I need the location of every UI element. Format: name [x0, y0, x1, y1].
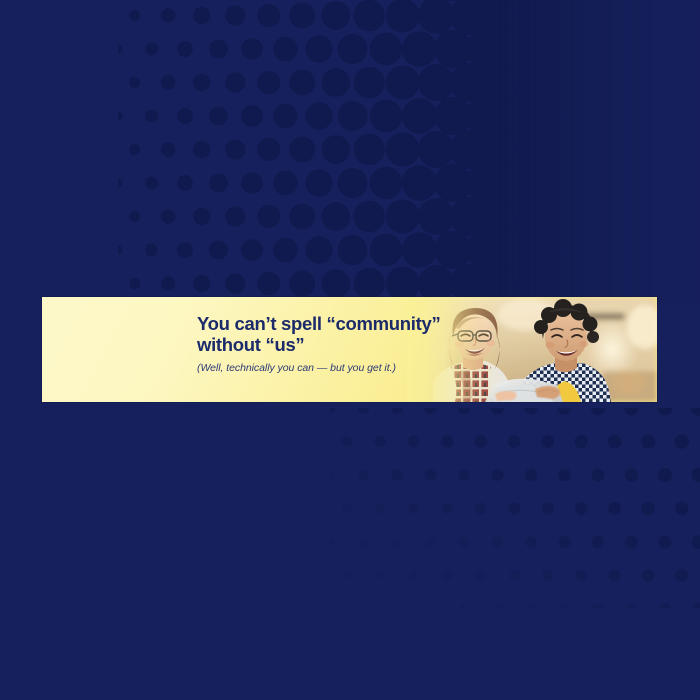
halftone-dot-pattern-top: [118, 0, 700, 304]
page-canvas: You can’t spell “community” without “us”…: [0, 0, 700, 700]
banner-subtext: (Well, technically you can — but you get…: [197, 362, 527, 375]
community-banner[interactable]: You can’t spell “community” without “us”…: [42, 297, 657, 402]
banner-copy: You can’t spell “community” without “us”…: [197, 314, 527, 375]
halftone-dot-pattern-bottom: [330, 408, 700, 608]
banner-headline: You can’t spell “community” without “us”: [197, 314, 527, 355]
